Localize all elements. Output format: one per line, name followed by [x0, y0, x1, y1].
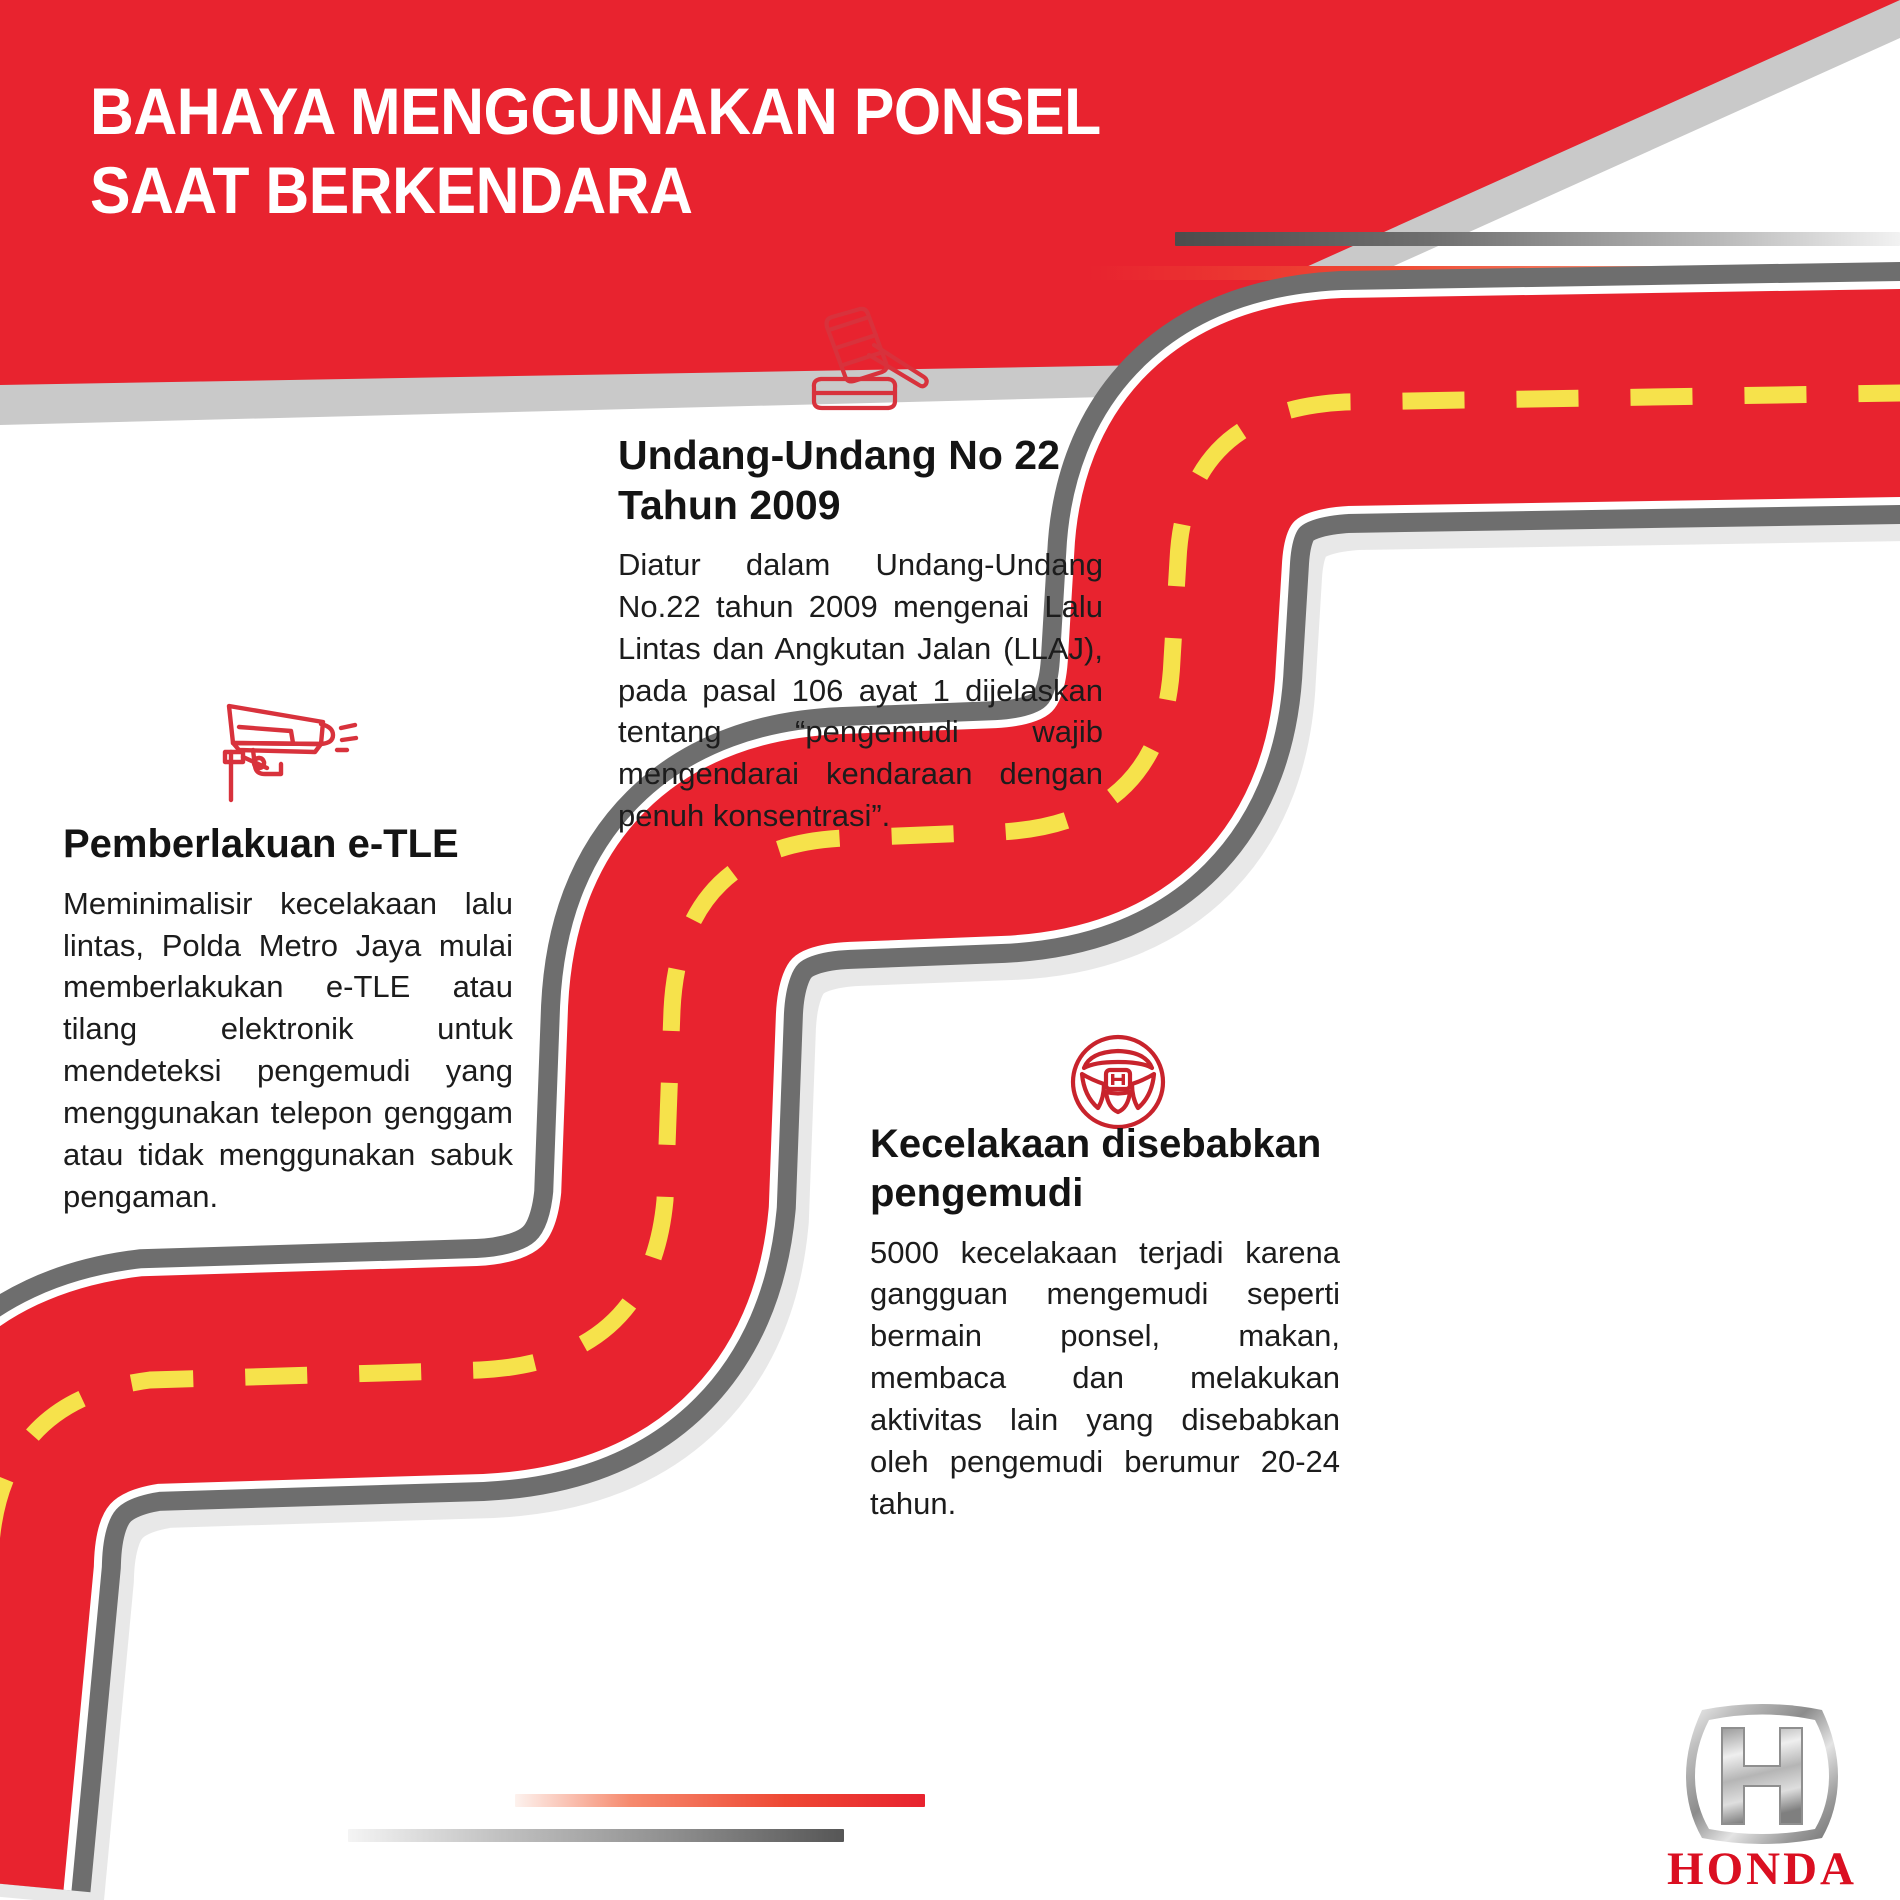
section-body: Meminimalisir kecelakaan lalu lintas, Po… — [63, 883, 513, 1218]
gavel-icon — [790, 305, 930, 420]
infographic-canvas: BAHAYA MENGGUNAKAN PONSEL SAAT BERKENDAR… — [0, 0, 1900, 1900]
section-body: Diatur dalam Undang-Undang No.22 tahun 2… — [618, 544, 1103, 837]
section-title: Kecelakaan disebabkan pengemudi — [870, 1120, 1340, 1218]
honda-logo: HONDA — [1662, 1692, 1862, 1887]
honda-wordmark: HONDA — [1662, 1842, 1862, 1896]
section-kecelakaan-pengemudi: Kecelakaan disebabkan pengemudi 5000 kec… — [870, 1120, 1340, 1525]
section-undang-undang: Undang-Undang No 22 Tahun 2009 Diatur da… — [618, 430, 1103, 837]
section-title: Undang-Undang No 22 Tahun 2009 — [618, 430, 1103, 530]
section-pemberlakuan-etle: Pemberlakuan e-TLE Meminimalisir kecelak… — [63, 820, 513, 1218]
honda-h-mark — [1111, 1074, 1125, 1085]
cctv-camera-icon — [215, 700, 360, 810]
section-title: Pemberlakuan e-TLE — [63, 820, 513, 869]
section-body: 5000 kecelakaan terjadi karena gangguan … — [870, 1232, 1340, 1525]
steering-wheel-icon — [1068, 1032, 1168, 1132]
